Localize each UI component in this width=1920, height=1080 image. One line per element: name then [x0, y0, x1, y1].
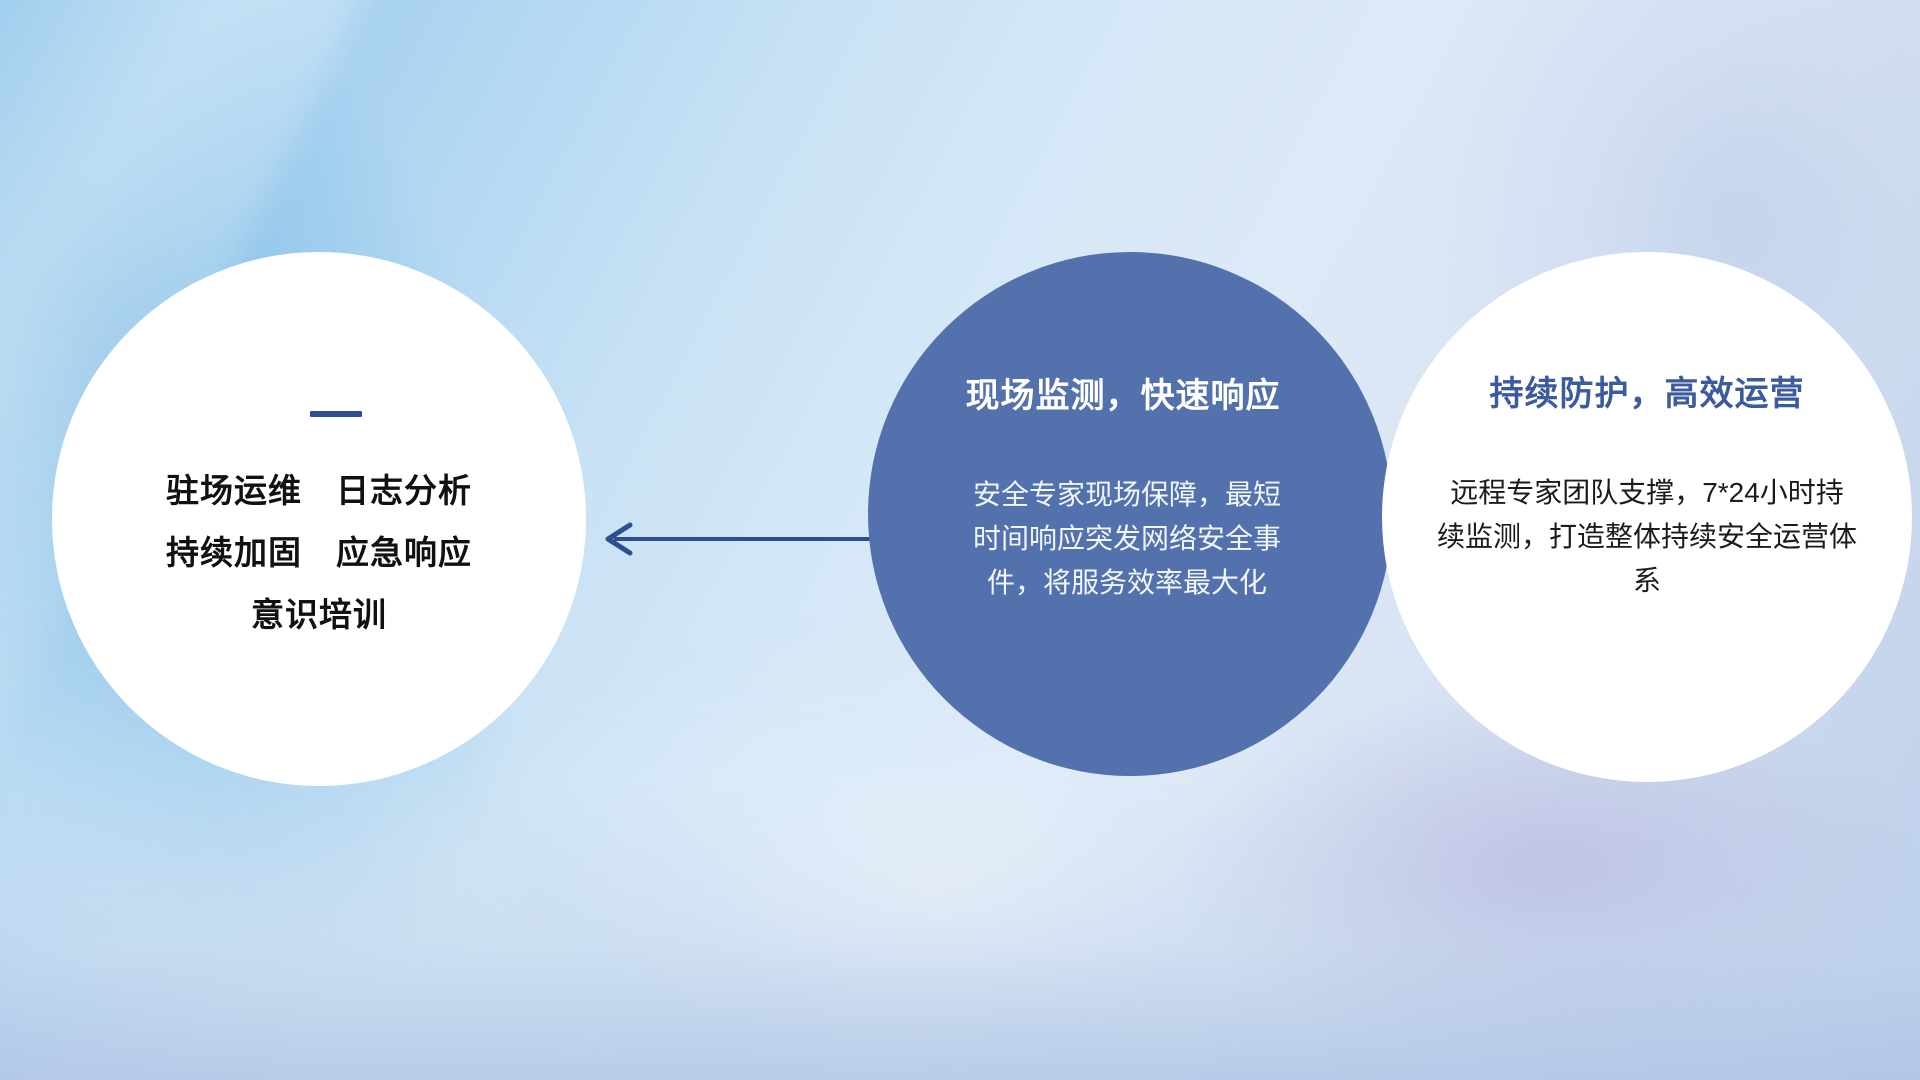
mid-circle-heading: 现场监测，快速响应 — [966, 368, 1281, 417]
capability-tag: 驻场运维 — [166, 473, 302, 509]
diagram-canvas: 驻场运维 日志分析 持续加固 应急响应 意识培训 现场监测，快速响应 安全专家现… — [0, 0, 1920, 1080]
capability-tag-list: 驻场运维 日志分析 持续加固 应急响应 意识培训 — [166, 473, 472, 634]
continuous-protection-circle: 持续防护，高效运营 远程专家团队支撑，7*24小时持续监测，打造整体持续安全运营… — [1382, 252, 1912, 782]
onsite-monitoring-circle: 现场监测，快速响应 安全专家现场保障，最短时间响应突发网络安全事件，将服务效率最… — [868, 252, 1392, 776]
leftward-arrow-icon — [596, 516, 882, 562]
right-circle-heading: 持续防护，高效运营 — [1490, 366, 1805, 415]
dash-divider — [310, 411, 362, 417]
leftward-arrow — [596, 516, 882, 562]
capability-tag: 日志分析 — [336, 473, 472, 509]
capability-tag: 意识培训 — [251, 597, 387, 633]
right-circle-content: 持续防护，高效运营 远程专家团队支撑，7*24小时持续监测，打造整体持续安全运营… — [1382, 252, 1912, 782]
capability-tag-row: 持续加固 应急响应 — [166, 535, 472, 571]
left-capability-circle: 驻场运维 日志分析 持续加固 应急响应 意识培训 — [52, 252, 586, 786]
left-circle-content: 驻场运维 日志分析 持续加固 应急响应 意识培训 — [52, 252, 586, 786]
capability-tag-row: 驻场运维 日志分析 — [166, 473, 472, 509]
capability-tag: 持续加固 — [166, 535, 302, 571]
mid-circle-body: 安全专家现场保障，最短时间响应突发网络安全事件，将服务效率最大化 — [972, 473, 1282, 606]
capability-tag: 应急响应 — [336, 535, 472, 571]
capability-tag-row: 意识培训 — [251, 597, 387, 633]
mid-circle-content: 现场监测，快速响应 安全专家现场保障，最短时间响应突发网络安全事件，将服务效率最… — [868, 252, 1392, 776]
right-circle-body: 远程专家团队支撑，7*24小时持续监测，打造整体持续安全运营体系 — [1437, 471, 1857, 604]
background-bottom-band — [0, 780, 1920, 1080]
